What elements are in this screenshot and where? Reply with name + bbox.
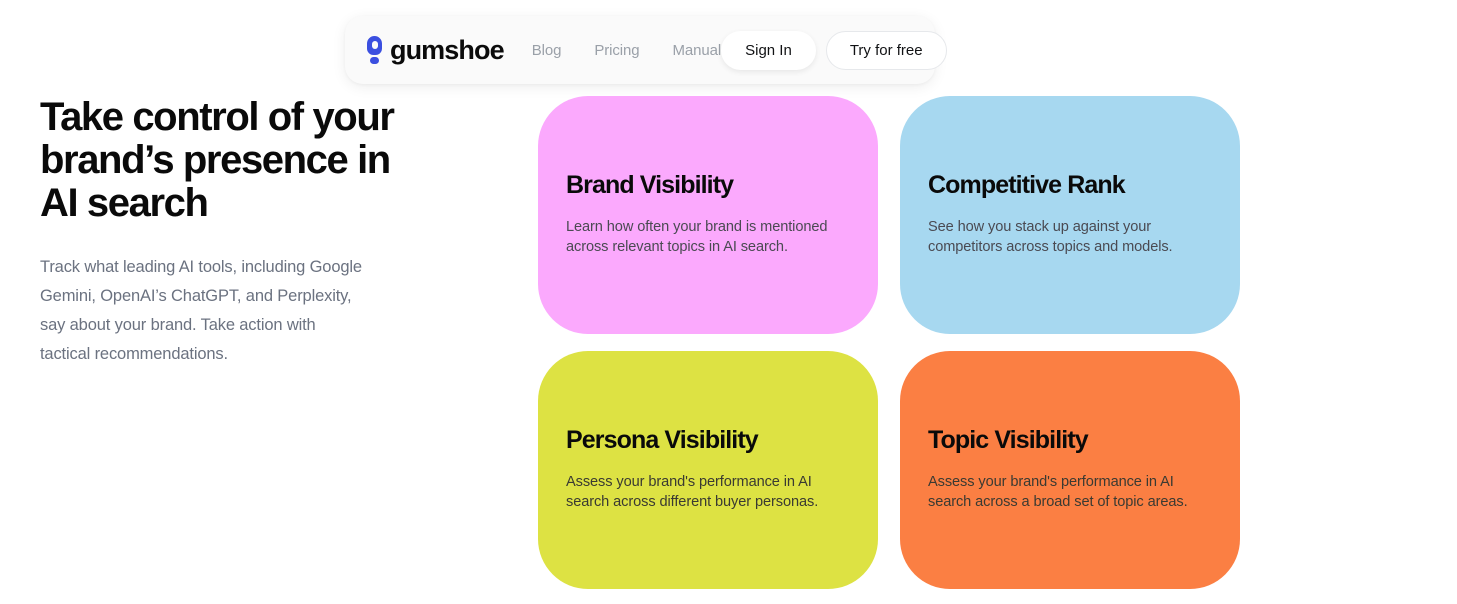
nav-links: Blog Pricing Manual [532, 42, 721, 59]
feature-card-title: Topic Visibility [928, 427, 1212, 455]
feature-card-title: Brand Visibility [566, 172, 850, 200]
nav-link-pricing[interactable]: Pricing [594, 42, 639, 59]
feature-card-description: Assess your brand's performance in AI se… [566, 473, 850, 513]
hero-section: Take control of your brand’s presence in… [40, 96, 420, 369]
hero-headline: Take control of your brand’s presence in… [40, 96, 420, 225]
brand-wordmark: gumshoe [390, 37, 504, 64]
sign-in-button[interactable]: Sign In [721, 31, 816, 70]
gumshoe-magnifier-icon [366, 36, 383, 64]
feature-card-grid: Brand Visibility Learn how often your br… [538, 96, 1240, 589]
feature-card-description: See how you stack up against your compet… [928, 218, 1212, 258]
brand-logo[interactable]: gumshoe [366, 36, 504, 64]
feature-card-description: Assess your brand's performance in AI se… [928, 473, 1212, 513]
feature-card-persona-visibility[interactable]: Persona Visibility Assess your brand's p… [538, 351, 878, 589]
feature-card-topic-visibility[interactable]: Topic Visibility Assess your brand's per… [900, 351, 1240, 589]
feature-card-brand-visibility[interactable]: Brand Visibility Learn how often your br… [538, 96, 878, 334]
nav-actions: Sign In Try for free [721, 31, 947, 70]
feature-card-competitive-rank[interactable]: Competitive Rank See how you stack up ag… [900, 96, 1240, 334]
feature-card-title: Persona Visibility [566, 427, 850, 455]
nav-link-blog[interactable]: Blog [532, 42, 562, 59]
try-for-free-button[interactable]: Try for free [826, 31, 947, 70]
nav-link-manual[interactable]: Manual [673, 42, 722, 59]
top-navigation-bar: gumshoe Blog Pricing Manual Sign In Try … [345, 16, 935, 84]
feature-card-title: Competitive Rank [928, 172, 1212, 200]
hero-subheadline: Track what leading AI tools, including G… [40, 253, 370, 369]
feature-card-description: Learn how often your brand is mentioned … [566, 218, 850, 258]
